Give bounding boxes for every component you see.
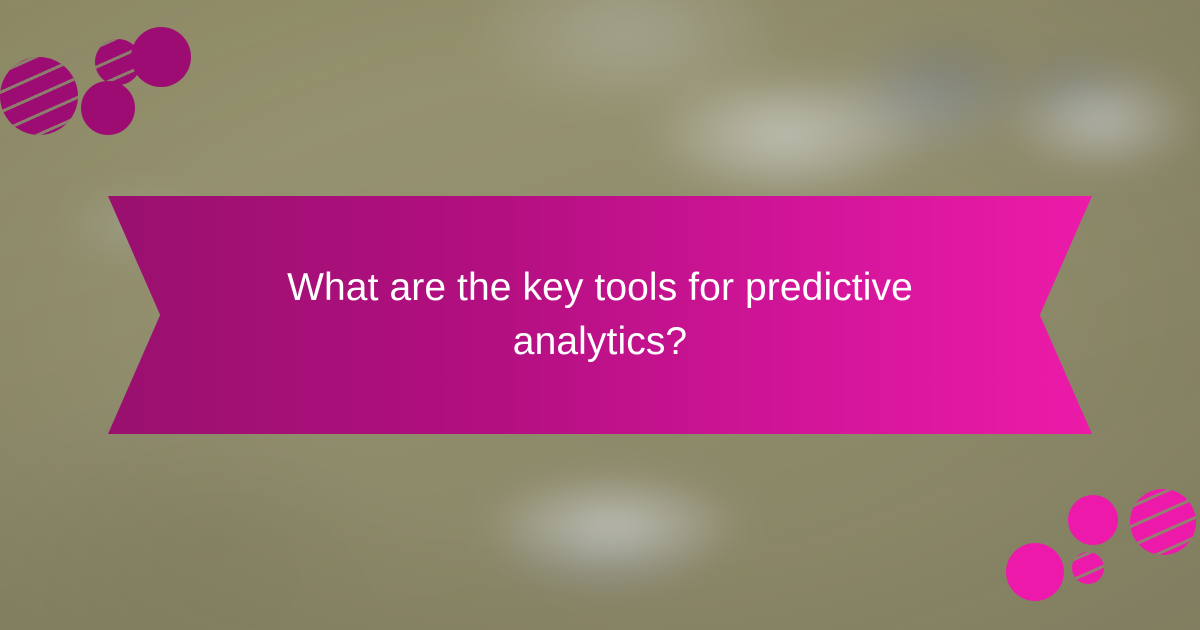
page-title: What are the key tools for predictive an… xyxy=(280,261,920,369)
circle-medium-plain-top-left xyxy=(81,81,135,135)
circle-large-striped-bottom-right xyxy=(1130,489,1196,555)
circle-large-striped-top-left xyxy=(0,57,78,135)
circle-medium-plain-bottom-right xyxy=(1068,495,1118,545)
circle-large-plain-bottom-right xyxy=(1006,543,1064,601)
banner-canvas: What are the key tools for predictive an… xyxy=(0,0,1200,630)
circle-large-plain-top-left xyxy=(131,27,191,87)
ribbon-banner: What are the key tools for predictive an… xyxy=(108,196,1092,434)
circle-small-striped-bottom-right xyxy=(1072,552,1104,584)
